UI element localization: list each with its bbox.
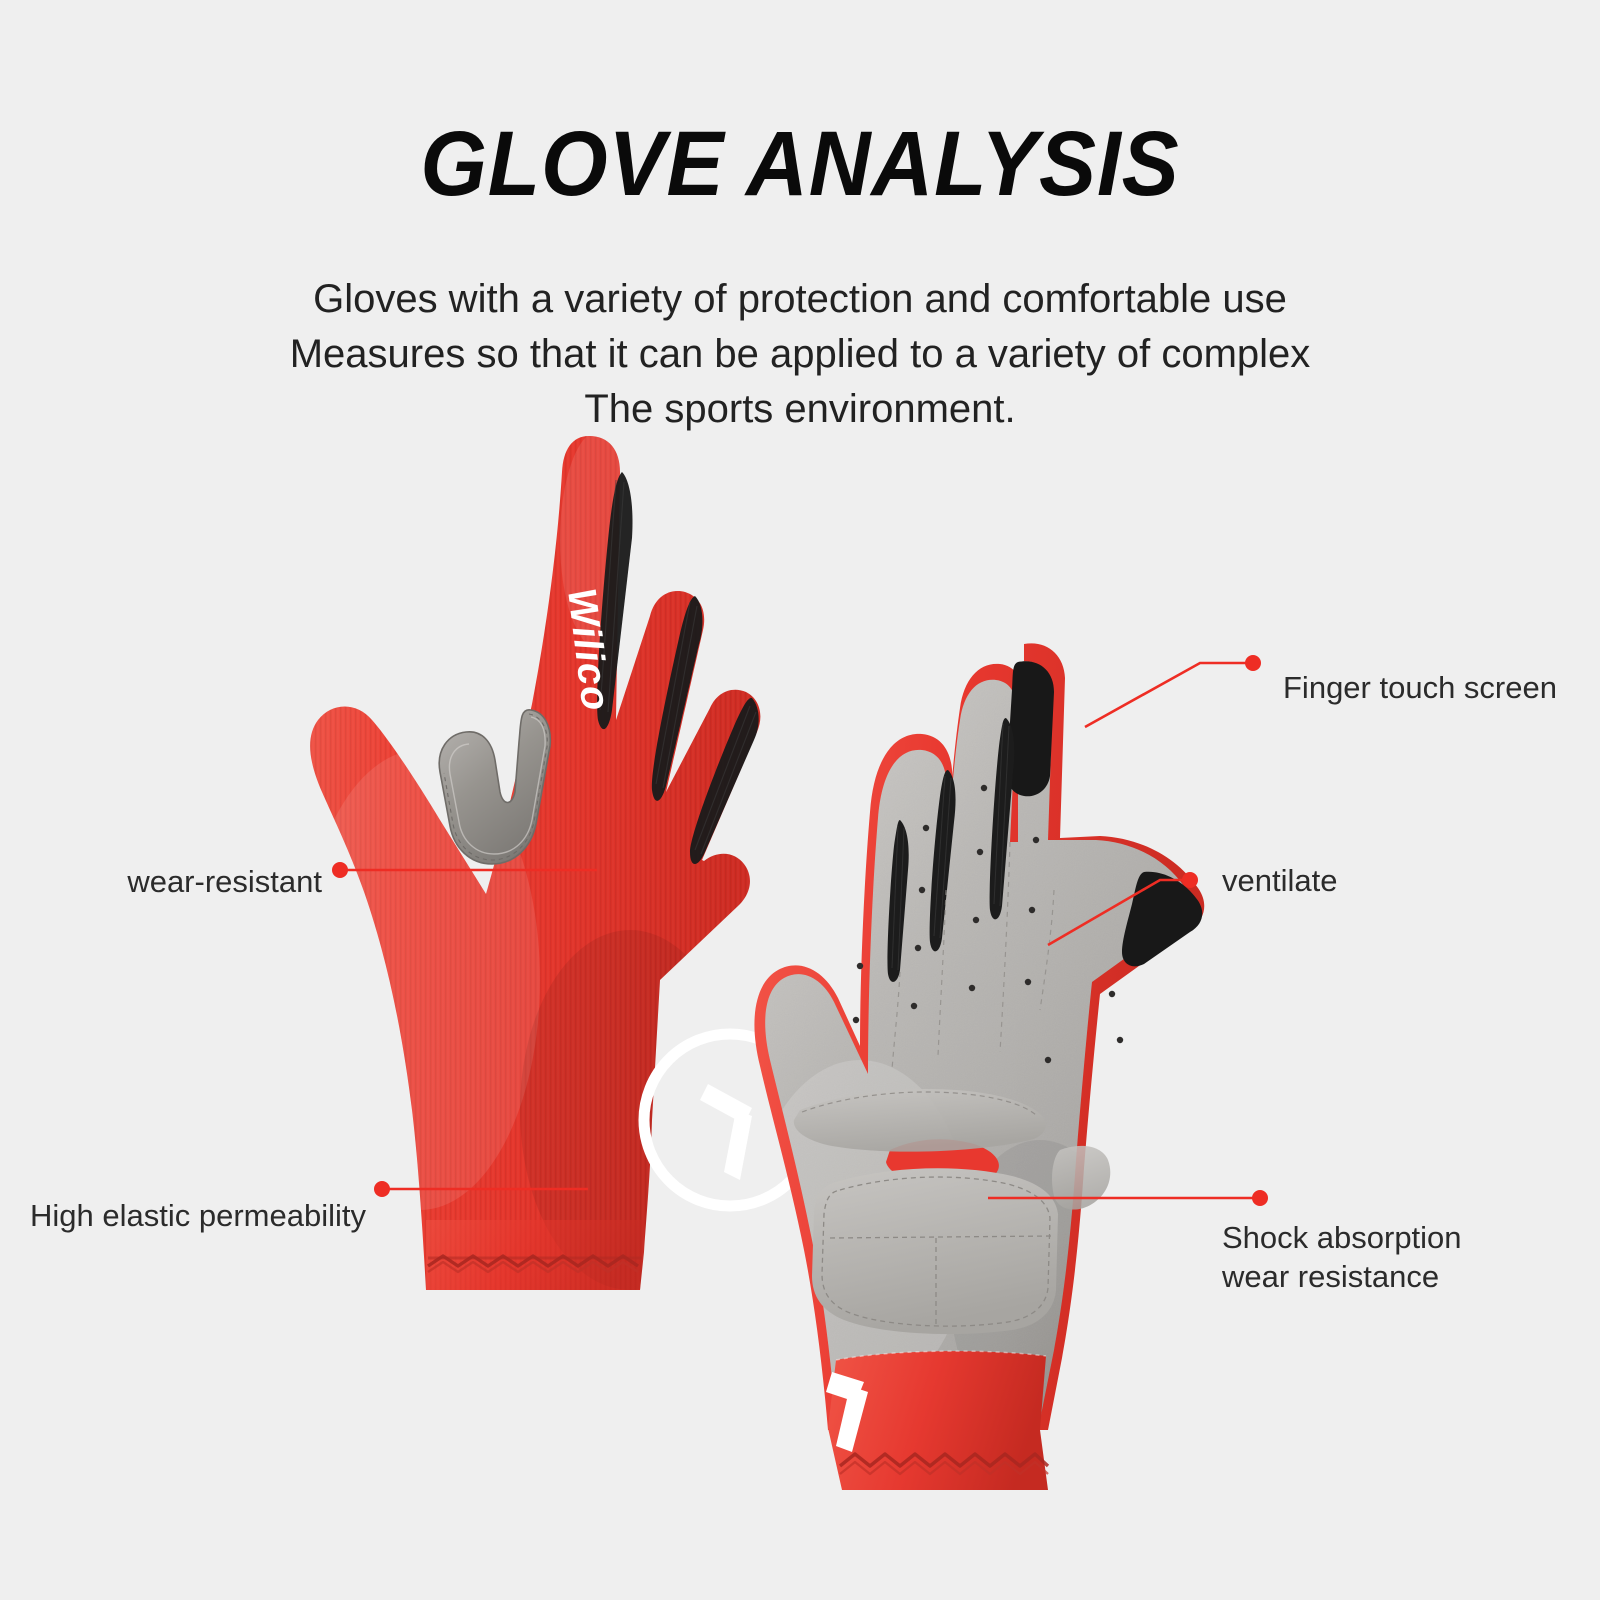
annotation-text-line: ventilate bbox=[1222, 861, 1337, 900]
annotation-label-ventilate: ventilate bbox=[1222, 861, 1337, 900]
cuff-back bbox=[426, 1220, 644, 1290]
cuff-palm bbox=[826, 1351, 1048, 1490]
annotation-label-finger-touch-screen: Finger touch screen bbox=[1283, 668, 1557, 707]
page-title: GLOVE ANALYSIS bbox=[56, 118, 1544, 210]
infographic-page: GLOVE ANALYSIS Gloves with a variety of … bbox=[0, 0, 1600, 1600]
annotation-label-high-elastic-permeability: High elastic permeability bbox=[20, 1196, 366, 1235]
annotation-text-line: Finger touch screen bbox=[1283, 668, 1557, 707]
annotation-text-line: High elastic permeability bbox=[20, 1196, 366, 1235]
annotation-label-wear-resistant: wear-resistant bbox=[20, 862, 322, 901]
page-subtitle: Gloves with a variety of protection and … bbox=[0, 272, 1600, 437]
annotation-text-line: wear-resistant bbox=[20, 862, 322, 901]
subtitle-line-2: Measures so that it can be applied to a … bbox=[0, 327, 1600, 382]
subtitle-line-1: Gloves with a variety of protection and … bbox=[0, 272, 1600, 327]
annotation-text-line: wear resistance bbox=[1222, 1257, 1462, 1296]
annotation-label-shock-absorption-wear-resistance: Shock absorption wear resistance bbox=[1222, 1218, 1462, 1296]
annotation-text-line: Shock absorption bbox=[1222, 1218, 1462, 1257]
glove-palm-side bbox=[740, 590, 1300, 1540]
